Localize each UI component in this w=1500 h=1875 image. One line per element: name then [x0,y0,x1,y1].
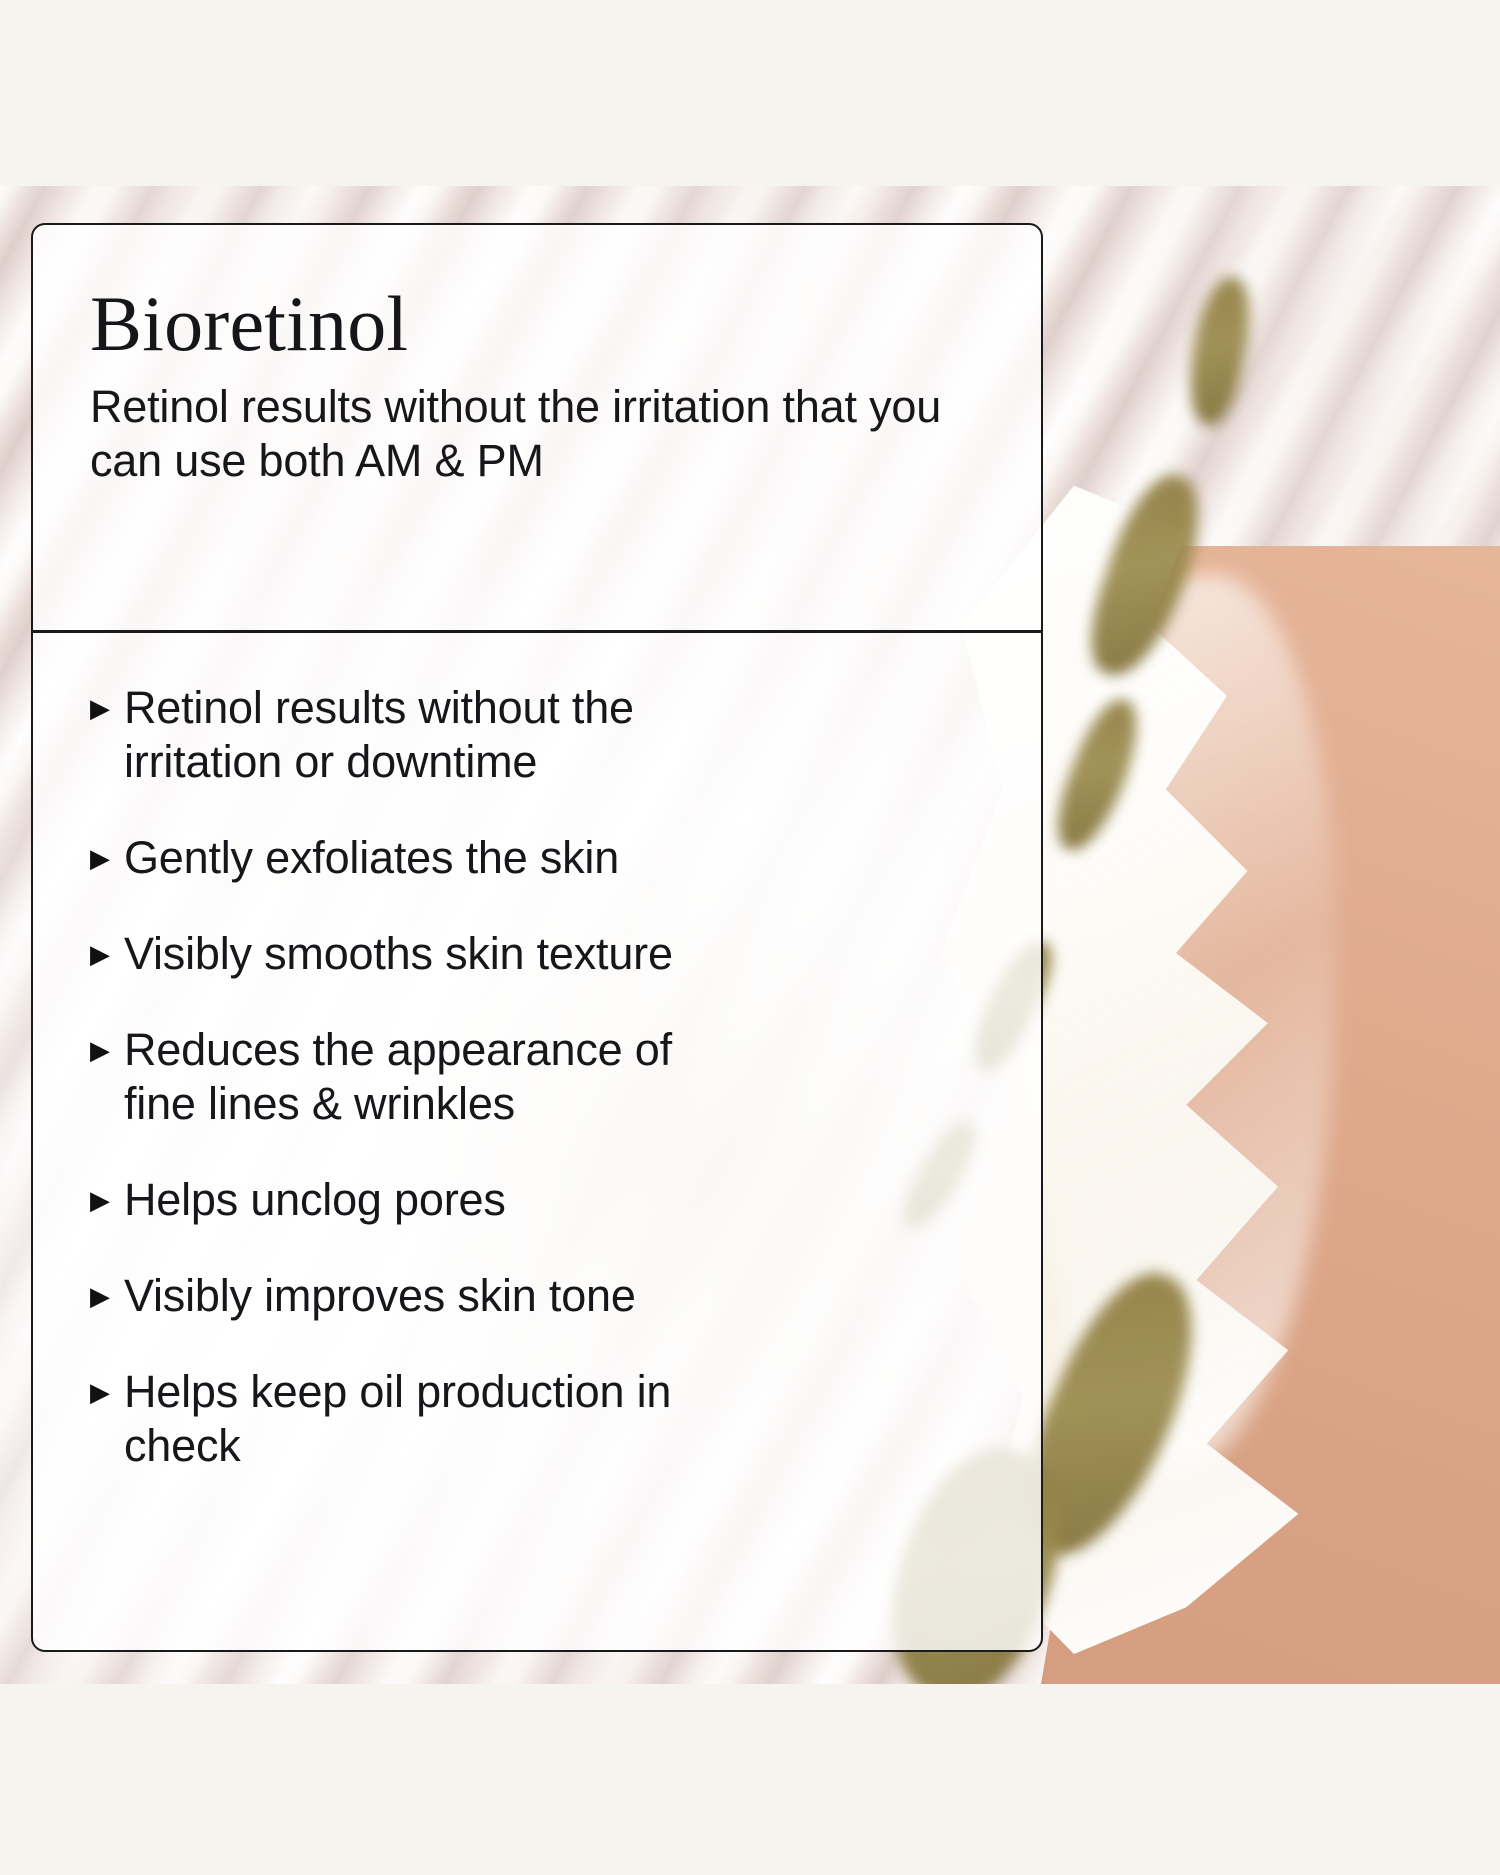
list-item: ▶ Visibly improves skin tone [90,1269,1001,1323]
triangle-bullet-icon: ▶ [90,695,124,721]
page-title: Bioretinol [90,284,1001,364]
letterbox-top [0,0,1500,186]
triangle-bullet-icon: ▶ [90,1037,124,1063]
card-subtitle: Retinol results without the irritation t… [90,380,1001,490]
list-item-label: Retinol results without the irritation o… [124,681,744,789]
list-item: ▶ Helps unclog pores [90,1173,1001,1227]
list-item-label: Gently exfoliates the skin [124,831,619,885]
list-item: ▶ Retinol results without the irritation… [90,681,1001,789]
list-item: ▶ Visibly smooths skin texture [90,927,1001,981]
list-item-label: Visibly smooths skin texture [124,927,673,981]
product-ingredient-card-screenshot: Bioretinol Retinol results without the i… [0,0,1500,1875]
list-item: ▶ Gently exfoliates the skin [90,831,1001,885]
list-item-label: Visibly improves skin tone [124,1269,636,1323]
list-item: ▶ Reduces the appearance of fine lines &… [90,1023,1001,1131]
list-item: ▶ Helps keep oil production in check [90,1365,1001,1473]
triangle-bullet-icon: ▶ [90,1187,124,1213]
benefits-list: ▶ Retinol results without the irritation… [90,681,1001,1473]
list-item-label: Helps keep oil production in check [124,1365,744,1473]
triangle-bullet-icon: ▶ [90,1283,124,1309]
letterbox-bottom [0,1684,1500,1875]
list-item-label: Helps unclog pores [124,1173,506,1227]
ingredient-card: Bioretinol Retinol results without the i… [31,223,1043,1652]
triangle-bullet-icon: ▶ [90,1379,124,1405]
triangle-bullet-icon: ▶ [90,845,124,871]
card-body: ▶ Retinol results without the irritation… [33,633,1041,1513]
list-item-label: Reduces the appearance of fine lines & w… [124,1023,744,1131]
triangle-bullet-icon: ▶ [90,941,124,967]
card-header: Bioretinol Retinol results without the i… [33,225,1041,633]
